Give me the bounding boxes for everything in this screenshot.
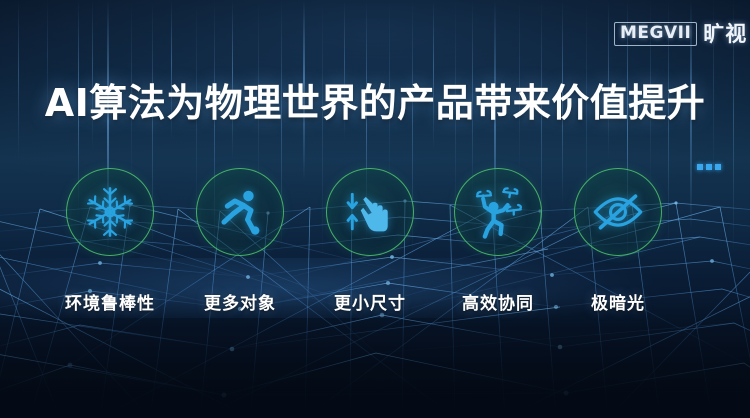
feature-item-low-light[interactable]: 极暗光 [553,168,683,314]
feature-item-more-objects[interactable]: 更多对象 [175,168,305,314]
bottom-fade [0,298,750,418]
feature-label: 更小尺寸 [305,289,435,314]
page-title: AI算法为物理世界的产品带来价值提升 [0,72,750,127]
eye-slash-icon [590,184,646,240]
feature-label: 高效协同 [433,289,563,314]
running-person-ball-icon [213,185,267,239]
person-drones-collaboration-icon [470,184,526,240]
feature-label: 更多对象 [175,289,305,314]
presentation-slide: MEGVII 旷视 AI算法为物理世界的产品带来价值提升 [0,0,750,418]
megvii-logo-wordmark: MEGVII [614,22,697,46]
feature-list: 环境鲁棒性 更多对象 [0,168,750,308]
feature-icon-circle [454,168,542,256]
feature-icon-circle [326,168,414,256]
feature-label: 环境鲁棒性 [45,289,175,314]
feature-label: 极暗光 [553,289,683,314]
feature-item-collaboration[interactable]: 高效协同 [433,168,563,314]
feature-item-smaller-size[interactable]: 更小尺寸 [305,168,435,314]
snowflake-icon [83,185,137,239]
pinch-hand-shrink-icon [343,185,397,239]
feature-icon-circle [66,168,154,256]
megvii-logo-chinese: 旷视 [703,24,747,45]
megvii-logo: MEGVII 旷视 [614,22,747,46]
feature-icon-circle [196,168,284,256]
feature-icon-circle [574,168,662,256]
feature-item-robustness[interactable]: 环境鲁棒性 [45,168,175,314]
